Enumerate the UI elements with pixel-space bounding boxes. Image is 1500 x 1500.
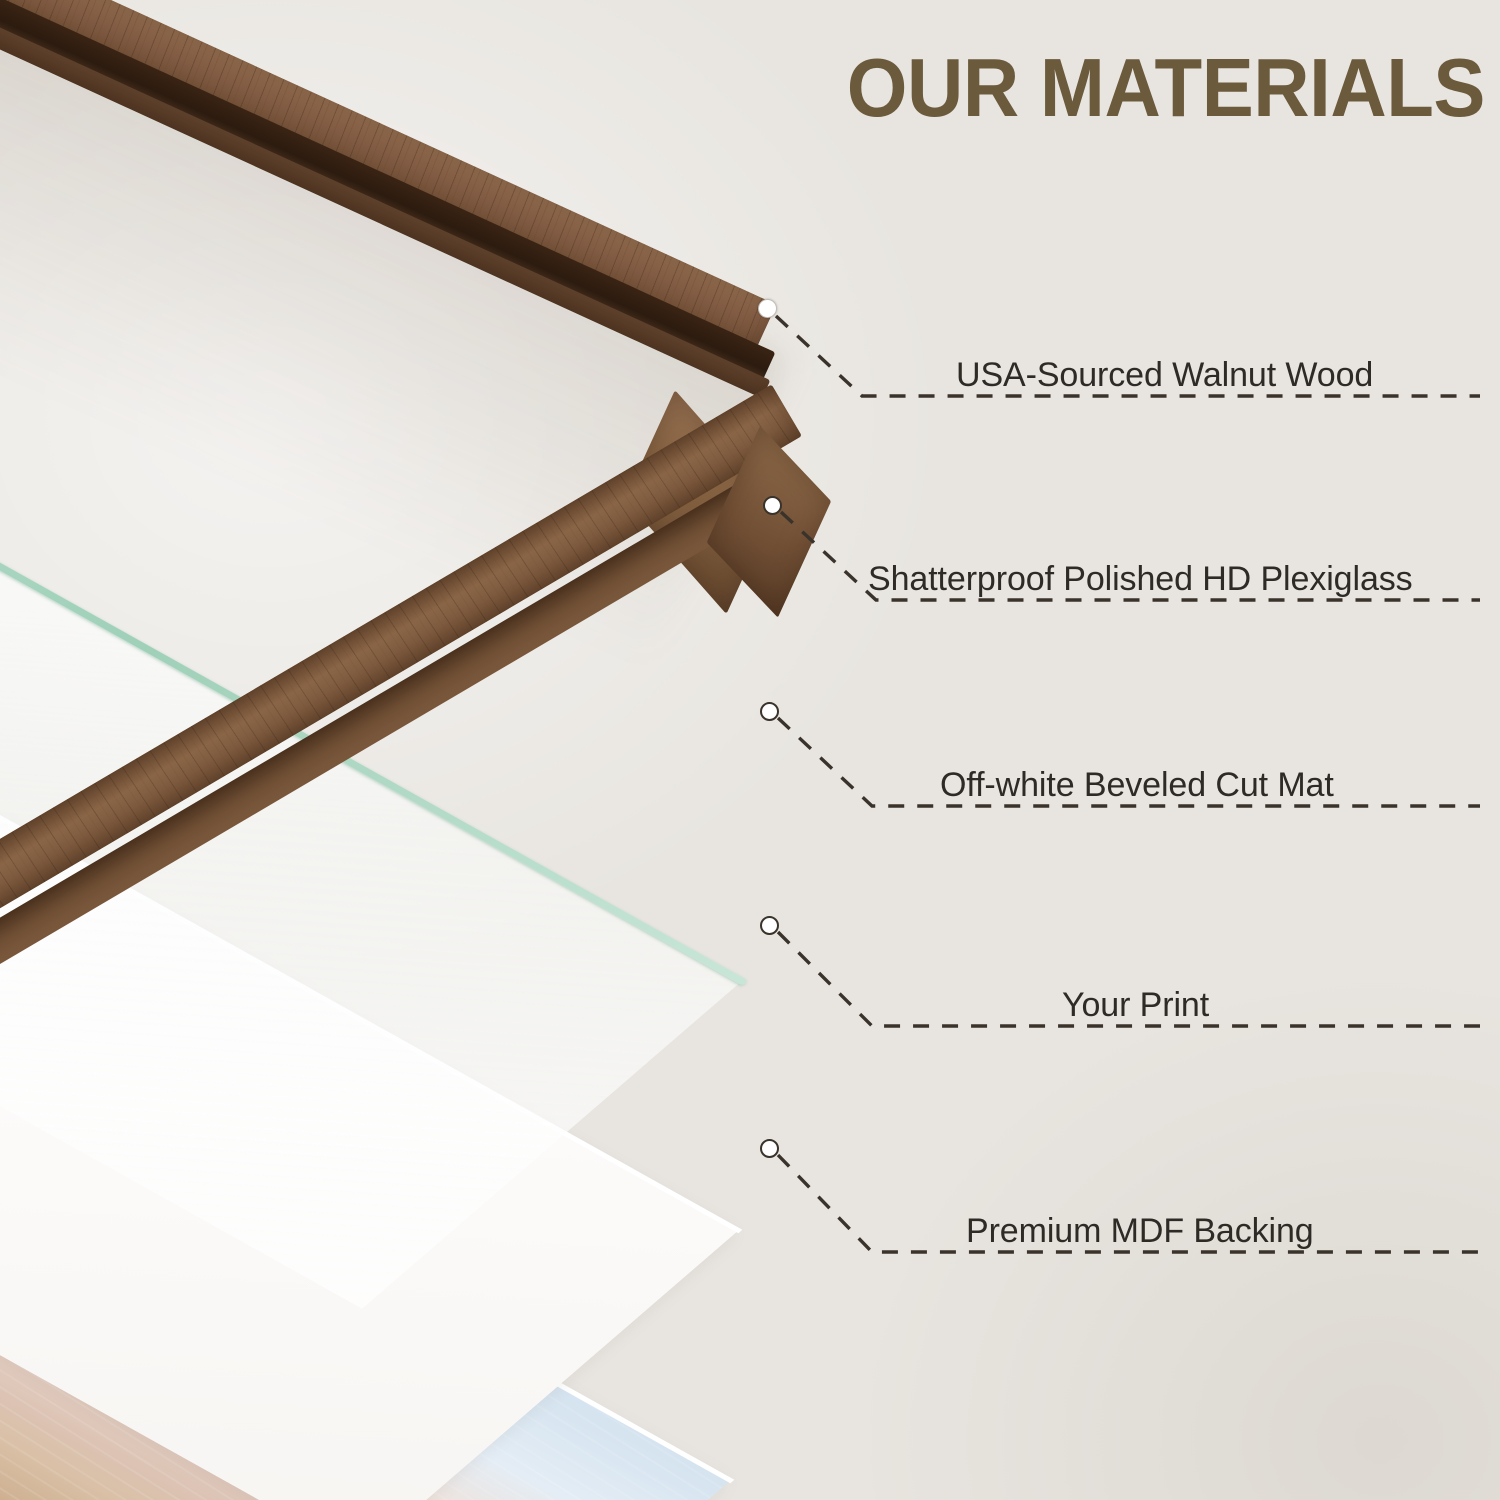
callout-marker-mat[interactable] xyxy=(760,702,779,721)
page-title: OUR MATERIALS xyxy=(836,46,1485,129)
callout-label-print: Your Print xyxy=(1062,986,1209,1025)
callout-label-walnut-wood: USA-Sourced Walnut Wood xyxy=(956,356,1373,395)
exploded-frame-illustration xyxy=(0,0,870,1500)
infographic-canvas: USA-Sourced Walnut Wood Shatterproof Pol… xyxy=(0,0,1500,1500)
callout-label-mat: Off-white Beveled Cut Mat xyxy=(940,766,1334,805)
callout-marker-mdf[interactable] xyxy=(760,1139,779,1158)
callout-marker-print[interactable] xyxy=(760,916,779,935)
callout-marker-plexiglass[interactable] xyxy=(763,496,782,515)
callout-label-plexiglass: Shatterproof Polished HD Plexiglass xyxy=(868,560,1413,599)
walnut-frame-group xyxy=(0,0,870,730)
callout-label-mdf: Premium MDF Backing xyxy=(966,1212,1314,1251)
callout-marker-walnut-wood[interactable] xyxy=(758,299,777,318)
